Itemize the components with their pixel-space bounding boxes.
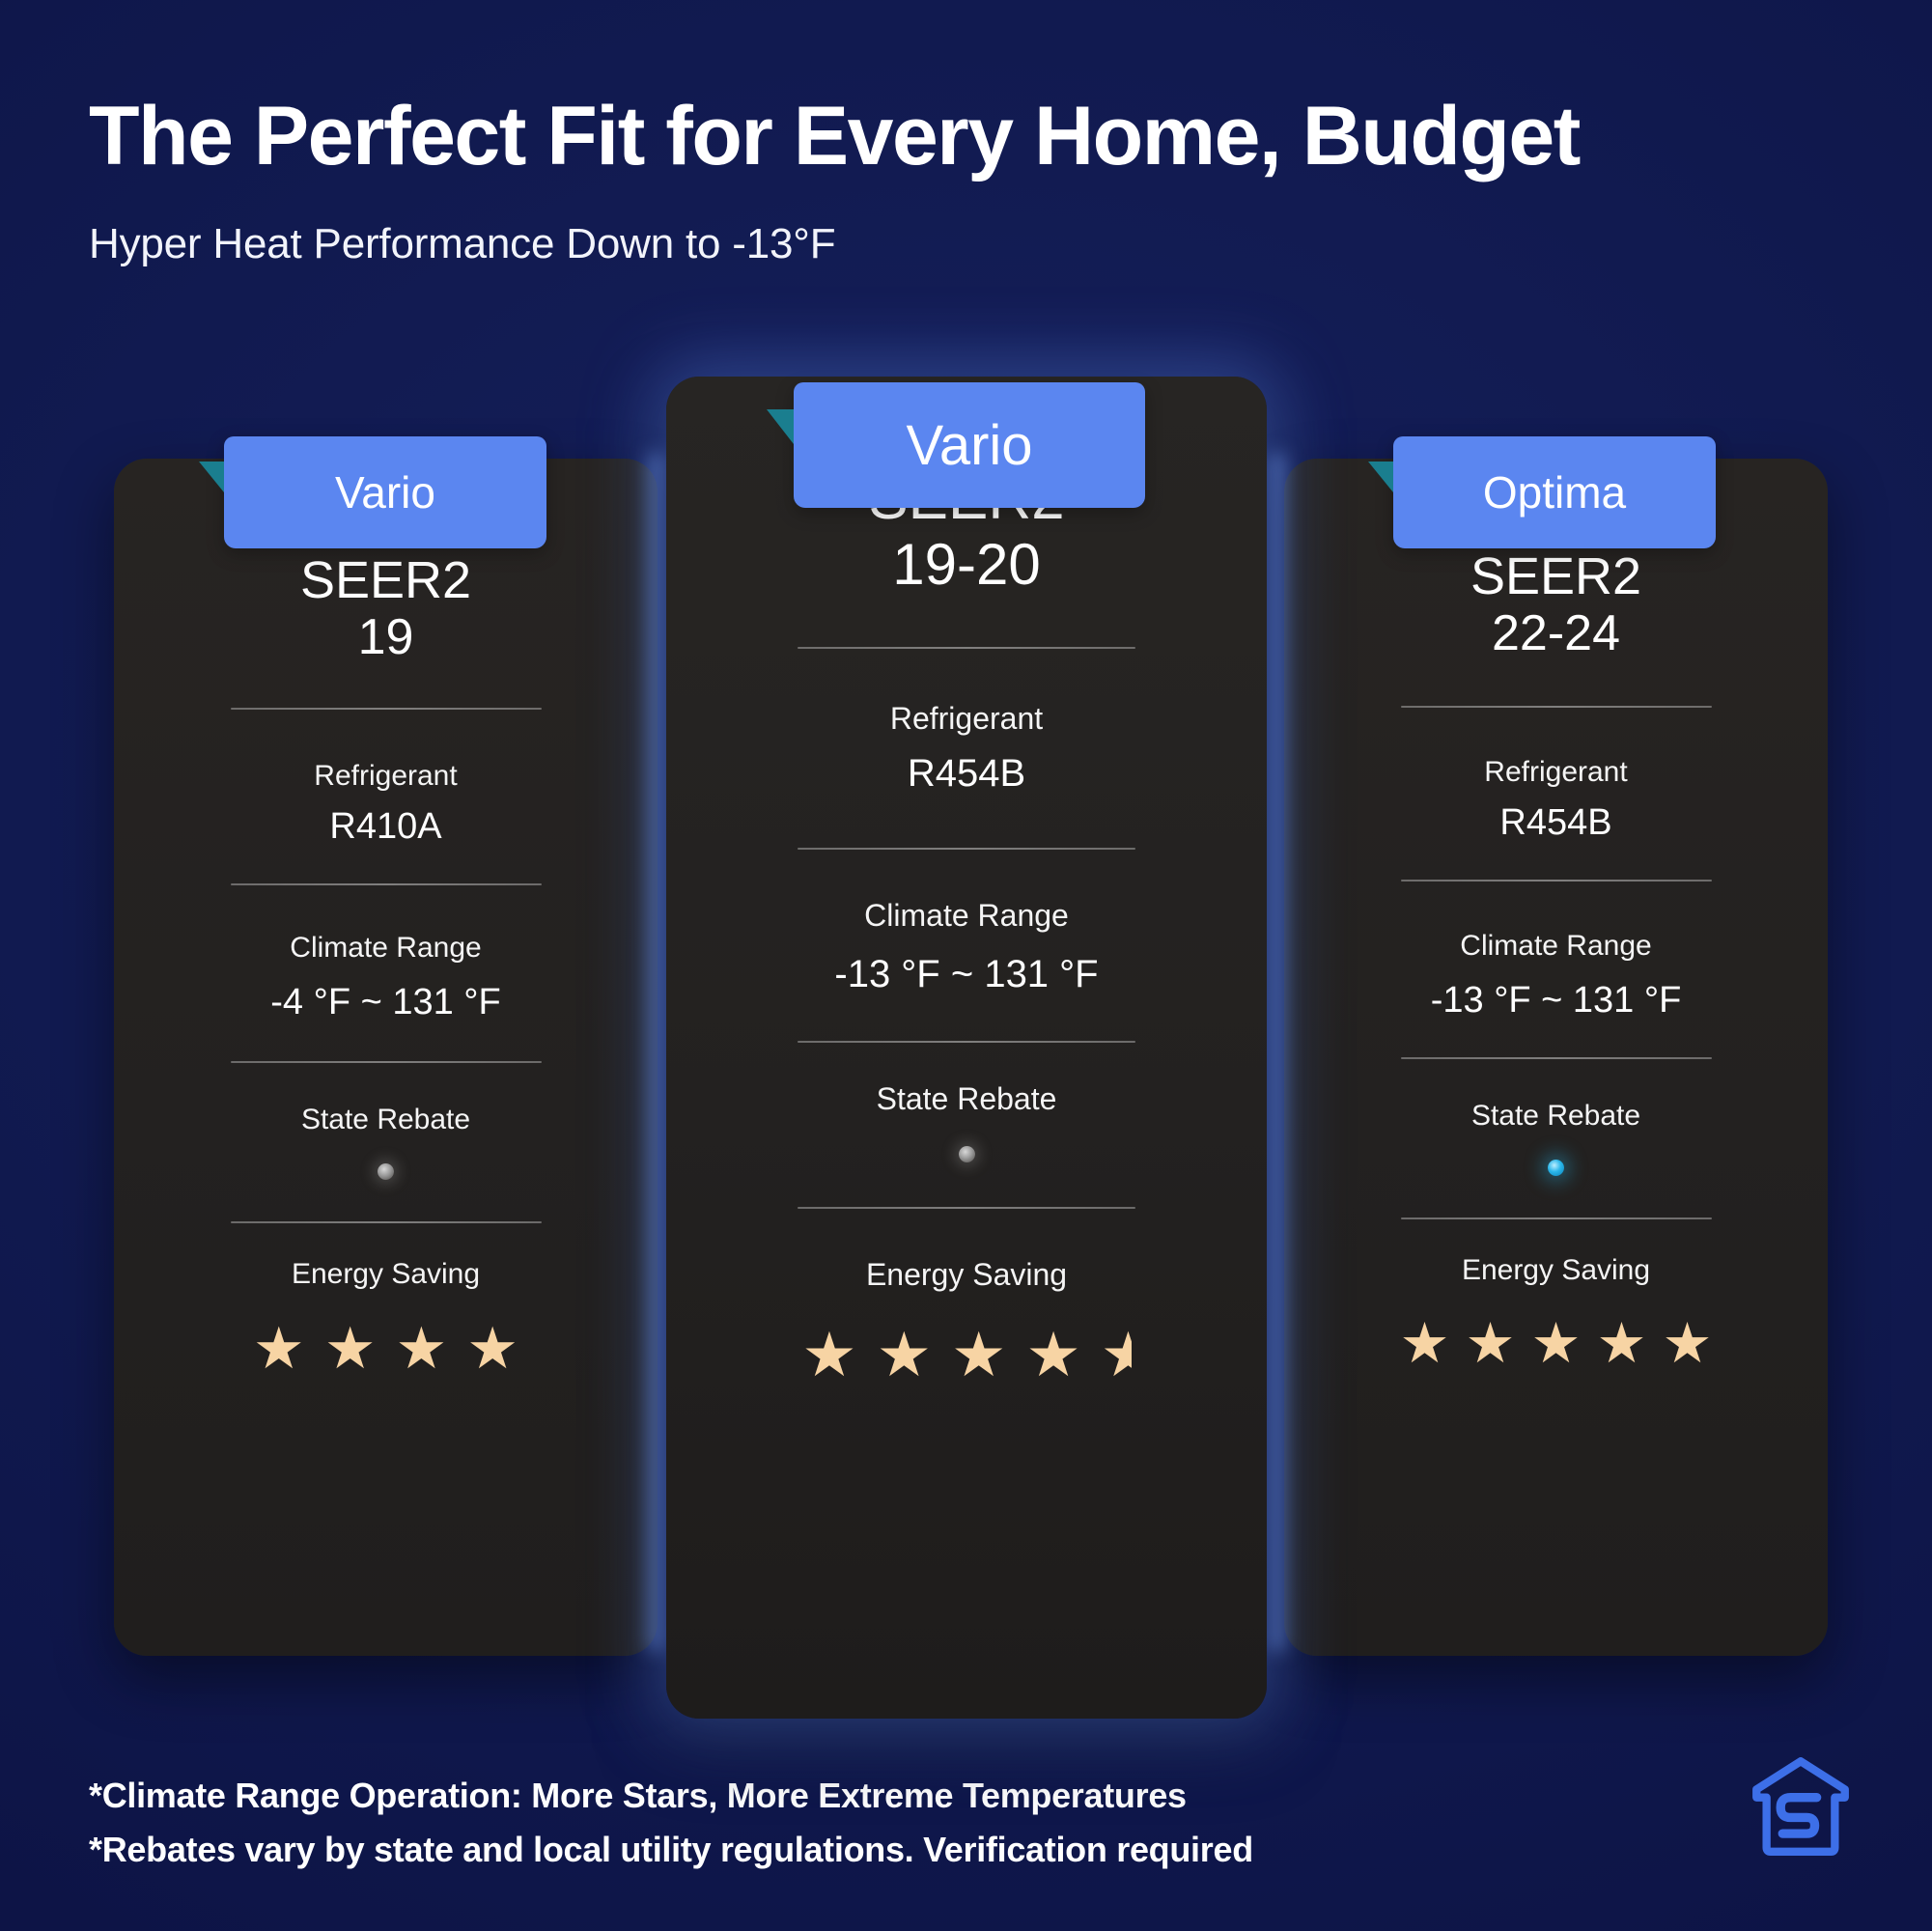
star-half-icon: ★ [1101, 1324, 1132, 1385]
footnotes: *Climate Range Operation: More Stars, Mo… [89, 1769, 1253, 1877]
refrigerant-value: R454B [666, 752, 1267, 796]
energy-saving-stars: ★★★★★ [1284, 1316, 1828, 1372]
star-full-icon: ★ [1466, 1316, 1516, 1372]
climate-range-label: Climate Range [666, 898, 1267, 934]
refrigerant-label: Refrigerant [1284, 756, 1828, 789]
state-rebate-indicator-dot [1548, 1160, 1564, 1176]
ribbon-fold-icon [767, 409, 794, 444]
seer-block: SEER2 19 [114, 551, 658, 666]
divider [231, 1221, 542, 1223]
refrigerant-value: R410A [114, 806, 658, 848]
climate-range-value: -4 °F ~ 131 °F [114, 982, 658, 1023]
climate-range-value: -13 °F ~ 131 °F [666, 953, 1267, 996]
star-full-icon: ★ [1025, 1324, 1080, 1385]
climate-range-label: Climate Range [114, 932, 658, 965]
energy-saving-label: Energy Saving [1284, 1254, 1828, 1287]
footnote-rebates: *Rebates vary by state and local utility… [89, 1823, 1253, 1877]
seer-label: SEER2 [114, 551, 658, 609]
state-rebate-label: State Rebate [1284, 1100, 1828, 1133]
seer-block: SEER2 22-24 [1284, 547, 1828, 662]
star-full-icon: ★ [324, 1320, 377, 1378]
star-full-icon: ★ [1663, 1316, 1713, 1372]
state-rebate-indicator-dot [378, 1163, 394, 1180]
divider [1401, 706, 1712, 708]
divider [1401, 880, 1712, 882]
energy-saving-stars: ★★★★★ [666, 1324, 1267, 1385]
divider [1401, 1217, 1712, 1219]
star-full-icon: ★ [1531, 1316, 1582, 1372]
star-full-icon: ★ [396, 1320, 448, 1378]
star-full-icon: ★ [801, 1324, 856, 1385]
footnote-climate-range: *Climate Range Operation: More Stars, Mo… [89, 1769, 1253, 1823]
state-rebate-label: State Rebate [114, 1104, 658, 1136]
plan-card-vario-left[interactable]: SEER2 19 Refrigerant R410A Climate Range… [114, 459, 658, 1656]
ribbon-label: Optima [1483, 466, 1626, 518]
ribbon-fold-icon [1368, 462, 1393, 492]
energy-saving-label: Energy Saving [114, 1258, 658, 1291]
seer-label: SEER2 [1284, 547, 1828, 605]
state-rebate-indicator-dot [959, 1146, 975, 1162]
ribbon-tab-vario-left[interactable]: Vario [224, 436, 546, 548]
brand-house-logo [1750, 1755, 1851, 1856]
divider [231, 708, 542, 710]
divider [798, 647, 1135, 649]
star-full-icon: ★ [951, 1324, 1006, 1385]
star-full-icon: ★ [877, 1324, 932, 1385]
star-full-icon: ★ [1597, 1316, 1647, 1372]
divider [798, 1041, 1135, 1043]
climate-range-value: -13 °F ~ 131 °F [1284, 980, 1828, 1021]
ribbon-fold-icon [199, 462, 224, 492]
seer-value: 22-24 [1284, 605, 1828, 661]
refrigerant-value: R454B [1284, 802, 1828, 844]
center-card-glow-right [1265, 454, 1290, 1651]
ribbon-tab-vario-center[interactable]: Vario [794, 382, 1145, 508]
divider [231, 1061, 542, 1063]
refrigerant-label: Refrigerant [666, 701, 1267, 737]
seer-value: 19-20 [666, 532, 1267, 597]
plan-card-vario-center[interactable]: SEER2 19-20 Refrigerant R454B Climate Ra… [666, 377, 1267, 1719]
refrigerant-label: Refrigerant [114, 760, 658, 793]
divider [798, 848, 1135, 850]
star-full-icon: ★ [466, 1320, 518, 1378]
star-full-icon: ★ [253, 1320, 305, 1378]
divider [798, 1207, 1135, 1209]
center-card-glow-left [643, 454, 668, 1651]
energy-saving-stars: ★★★★ [114, 1320, 658, 1378]
ribbon-label: Vario [335, 466, 435, 518]
seer-value: 19 [114, 609, 658, 665]
ribbon-tab-optima-right[interactable]: Optima [1393, 436, 1716, 548]
state-rebate-label: State Rebate [666, 1081, 1267, 1117]
star-full-icon: ★ [1400, 1316, 1450, 1372]
divider [1401, 1057, 1712, 1059]
climate-range-label: Climate Range [1284, 930, 1828, 963]
plan-card-optima-right[interactable]: SEER2 22-24 Refrigerant R454B Climate Ra… [1284, 459, 1828, 1656]
energy-saving-label: Energy Saving [666, 1257, 1267, 1293]
ribbon-label: Vario [906, 413, 1032, 478]
comparison-cards: SEER2 19 Refrigerant R410A Climate Range… [0, 0, 1932, 1931]
divider [231, 883, 542, 885]
